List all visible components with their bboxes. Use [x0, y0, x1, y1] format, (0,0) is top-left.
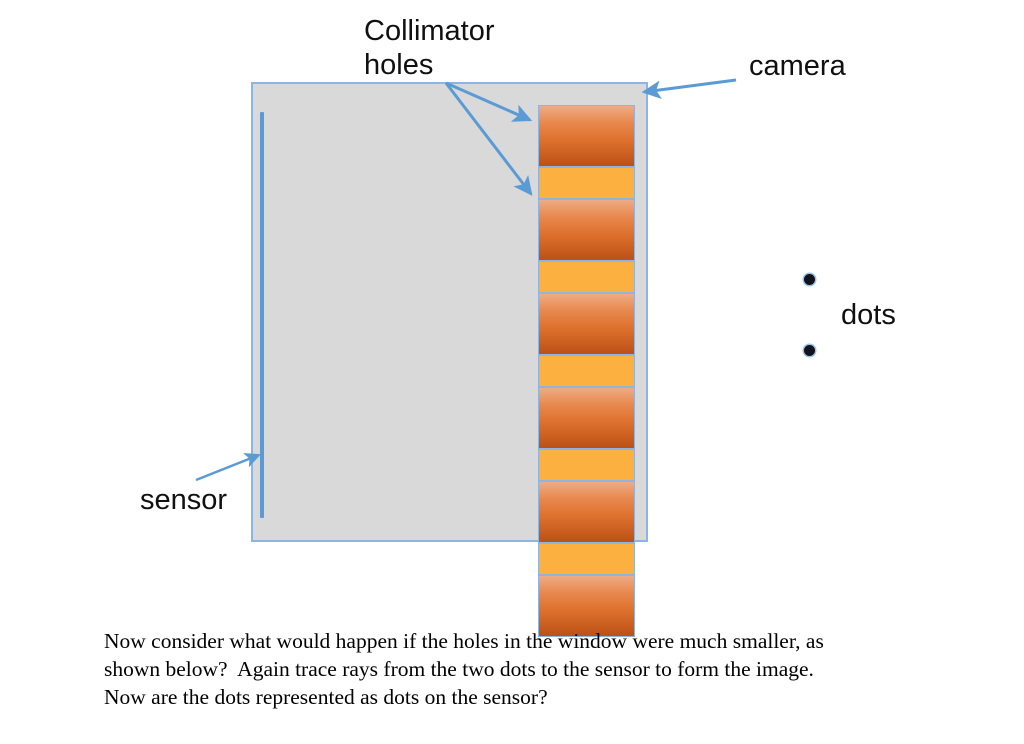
collimator-wall — [538, 481, 635, 543]
camera-arrow-icon — [644, 80, 736, 92]
dots-label: dots — [841, 298, 896, 332]
question-line-3: Now are the dots represented as dots on … — [104, 684, 934, 712]
collimator-stack — [538, 105, 635, 515]
question-line-2: shown below? Again trace rays from the t… — [104, 656, 934, 684]
collimator-hole — [538, 543, 635, 575]
sensor-arrow-icon — [196, 455, 259, 480]
collimator-hole — [538, 261, 635, 293]
collimator-hole — [538, 355, 635, 387]
camera-label: camera — [749, 49, 846, 83]
optics-diagram: Collimator holes camera sensor dots — [0, 0, 1024, 620]
collimator-holes-label: Collimator holes — [364, 14, 495, 82]
collimator-wall — [538, 293, 635, 355]
collimator-wall — [538, 105, 635, 167]
question-line-1: Now consider what would happen if the ho… — [104, 628, 934, 656]
upper-dot — [804, 274, 815, 285]
collimator-wall — [538, 199, 635, 261]
question-paragraph: Now consider what would happen if the ho… — [104, 628, 934, 712]
sensor-label: sensor — [140, 483, 227, 517]
sensor-line — [260, 112, 264, 518]
collimator-hole — [538, 449, 635, 481]
collimator-hole — [538, 167, 635, 199]
lower-dot — [804, 345, 815, 356]
collimator-wall — [538, 387, 635, 449]
